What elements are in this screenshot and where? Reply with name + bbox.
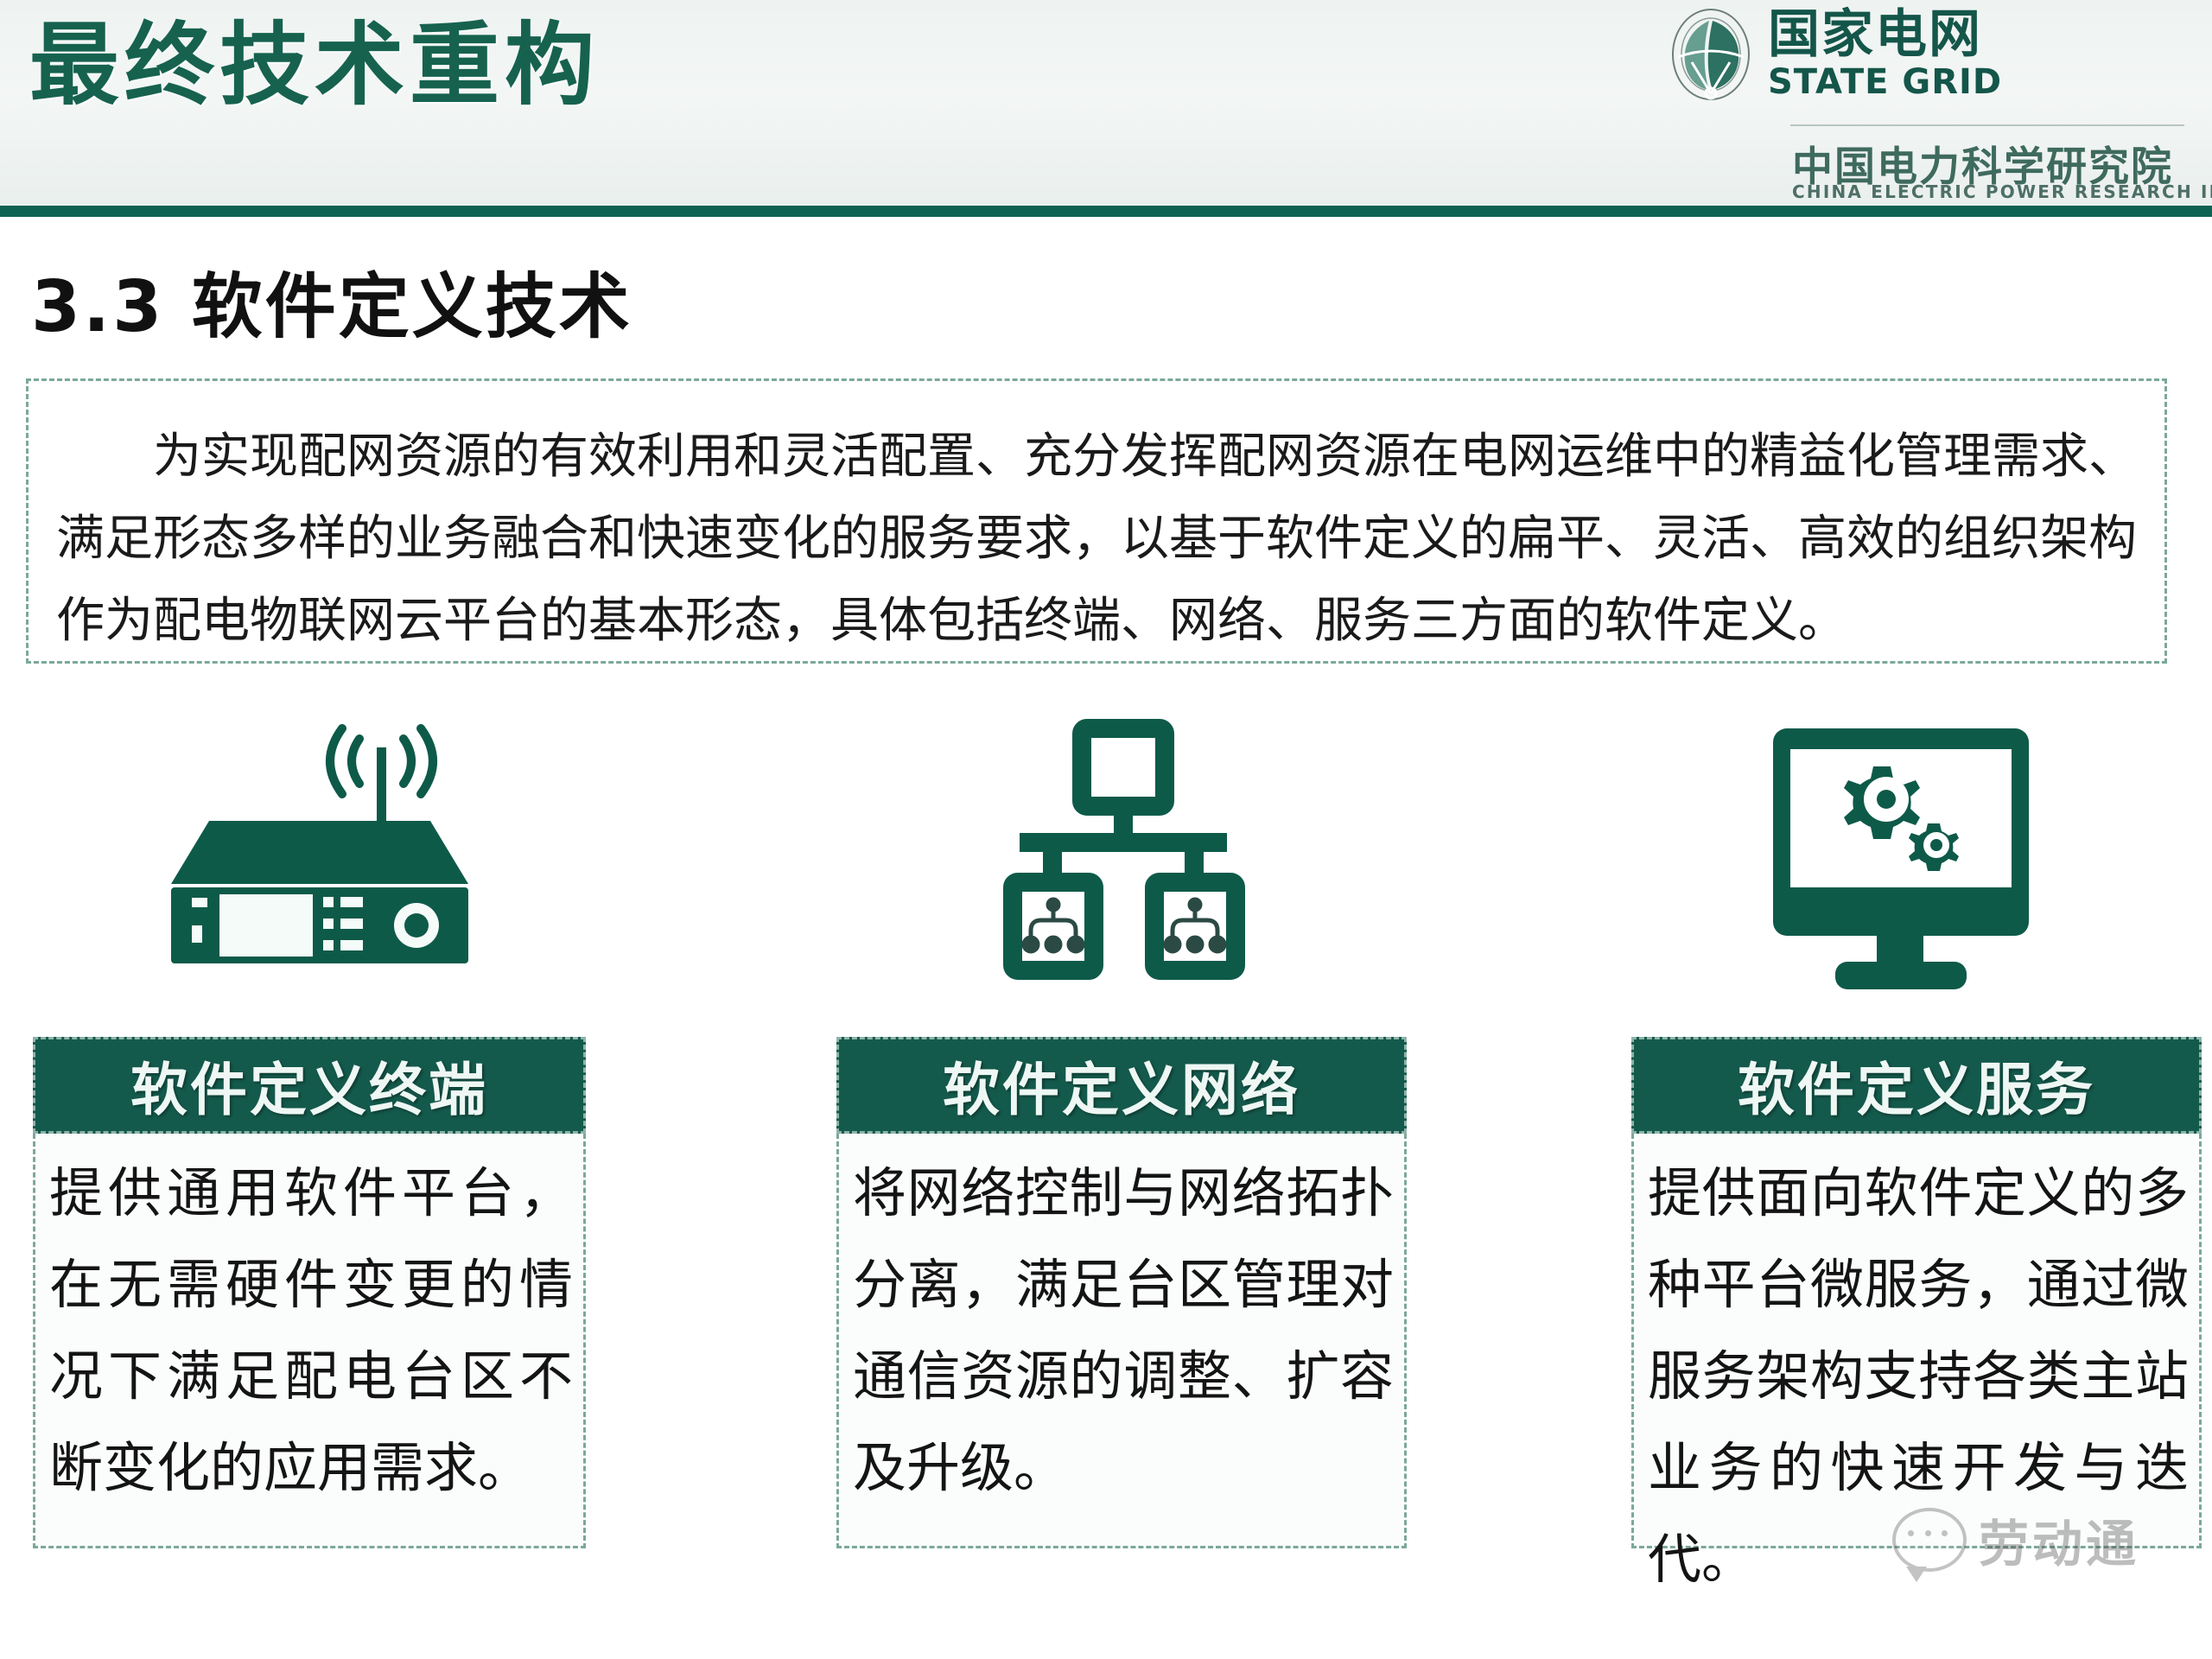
page-header: 最终技术重构 国家电网 STATE GRID 中国 — [0, 0, 2212, 214]
router-terminal-icon — [26, 691, 613, 1020]
card-text-network: 将网络控制与网络拓扑分离，满足台区管理对通信资源的调整、扩容及升级。 — [839, 1134, 1404, 1514]
brand-logo-block: 国家电网 STATE GRID 中国电力科学研究院 CHINA ELECTRIC… — [1669, 3, 2205, 202]
state-grid-globe-icon — [1669, 7, 1752, 102]
page-title: 最终技术重构 — [29, 9, 600, 121]
section-heading: 3.3 软件定义技术 — [31, 249, 632, 352]
state-grid-wordmark: 国家电网 STATE GRID — [1768, 8, 2002, 102]
logo-divider — [1790, 124, 2184, 126]
card-header-terminal: 软件定义终端 — [33, 1037, 586, 1134]
card-body-terminal: 提供通用软件平台，在无需硬件变更的情况下满足配电台区不断变化的应用需求。 — [33, 1134, 586, 1548]
card-title-terminal: 软件定义终端 — [130, 1044, 488, 1127]
intro-paragraph-text: 为实现配网资源的有效利用和灵活配置、充分发挥配网资源在电网运维中的精益化管理需求… — [29, 381, 2164, 662]
card-software-defined-network[interactable]: 软件定义网络 将网络控制与网络拓扑分离，满足台区管理对通信资源的调整、扩容及升级… — [829, 691, 1417, 1659]
institute-name-en: CHINA ELECTRIC POWER RESEARCH INSTITUTE — [1792, 181, 2212, 202]
intro-paragraph-box: 为实现配网资源的有效利用和灵活配置、充分发挥配网资源在电网运维中的精益化管理需求… — [26, 378, 2167, 664]
brand-name-cn: 国家电网 — [1768, 8, 2002, 62]
card-title-service: 软件定义服务 — [1738, 1044, 2095, 1127]
card-text-terminal: 提供通用软件平台，在无需硬件变更的情况下满足配电台区不断变化的应用需求。 — [35, 1134, 583, 1514]
card-body-network: 将网络控制与网络拓扑分离，满足台区管理对通信资源的调整、扩容及升级。 — [836, 1134, 1407, 1548]
monitor-gears-icon — [1624, 691, 2212, 1020]
brand-name-en: STATE GRID — [1768, 62, 2002, 102]
card-header-service: 软件定义服务 — [1631, 1037, 2202, 1134]
software-defined-cards: 软件定义终端 提供通用软件平台，在无需硬件变更的情况下满足配电台区不断变化的应用… — [0, 691, 2212, 1659]
card-software-defined-service[interactable]: 软件定义服务 提供面向软件定义的多种平台微服务，通过微服务架构支持各类主站业务的… — [1624, 691, 2212, 1659]
card-header-network: 软件定义网络 — [836, 1037, 1407, 1134]
network-topology-icon — [829, 691, 1417, 1020]
card-text-service: 提供面向软件定义的多种平台微服务，通过微服务架构支持各类主站业务的快速开发与迭代… — [1634, 1134, 2199, 1605]
state-grid-logo: 国家电网 STATE GRID — [1669, 7, 2002, 102]
card-title-network: 软件定义网络 — [943, 1044, 1300, 1127]
card-body-service: 提供面向软件定义的多种平台微服务，通过微服务架构支持各类主站业务的快速开发与迭代… — [1631, 1134, 2202, 1548]
card-software-defined-terminal[interactable]: 软件定义终端 提供通用软件平台，在无需硬件变更的情况下满足配电台区不断变化的应用… — [26, 691, 613, 1659]
header-accent-rule — [0, 206, 2212, 217]
